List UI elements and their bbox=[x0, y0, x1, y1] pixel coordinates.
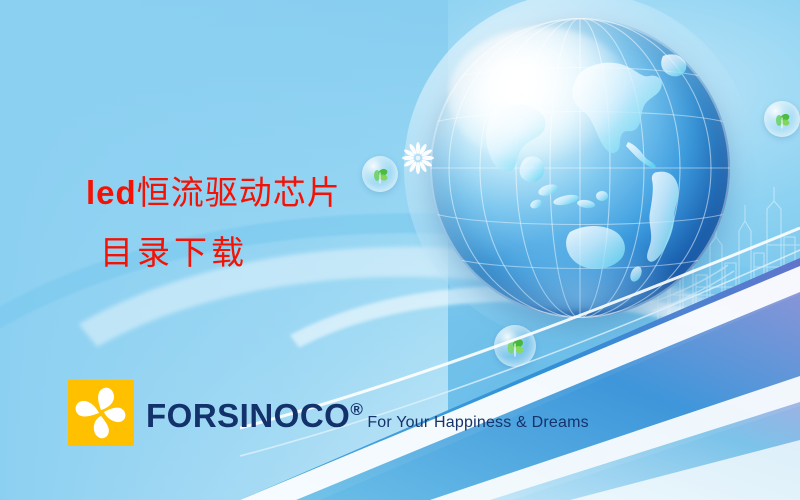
brand-name: FORSINOCO® bbox=[146, 397, 363, 434]
page-title: led恒流驱动芯片 目录下载 bbox=[86, 163, 341, 283]
registered-mark: ® bbox=[350, 400, 363, 419]
brand-tagline: For Your Happiness & Dreams bbox=[367, 414, 589, 431]
bubble-with-sprout-icon bbox=[764, 101, 800, 137]
brand-name-text: FORSINOCO bbox=[146, 397, 350, 434]
brand-text: FORSINOCO® For Your Happiness & Dreams bbox=[146, 392, 589, 434]
headline-line1: led恒流驱动芯片 bbox=[86, 173, 341, 212]
four-petal-pinwheel-icon bbox=[68, 380, 134, 446]
brand-logo: FORSINOCO® For Your Happiness & Dreams bbox=[68, 380, 589, 446]
slide-canvas: led恒流驱动芯片 目录下载 FORSINOCO® For Your Happi… bbox=[0, 0, 800, 500]
headline-line1-cjk: 恒流驱动芯片 bbox=[137, 173, 341, 212]
headline-line1-latin: led bbox=[86, 174, 137, 211]
headline-line2: 目录下载 bbox=[86, 223, 341, 283]
